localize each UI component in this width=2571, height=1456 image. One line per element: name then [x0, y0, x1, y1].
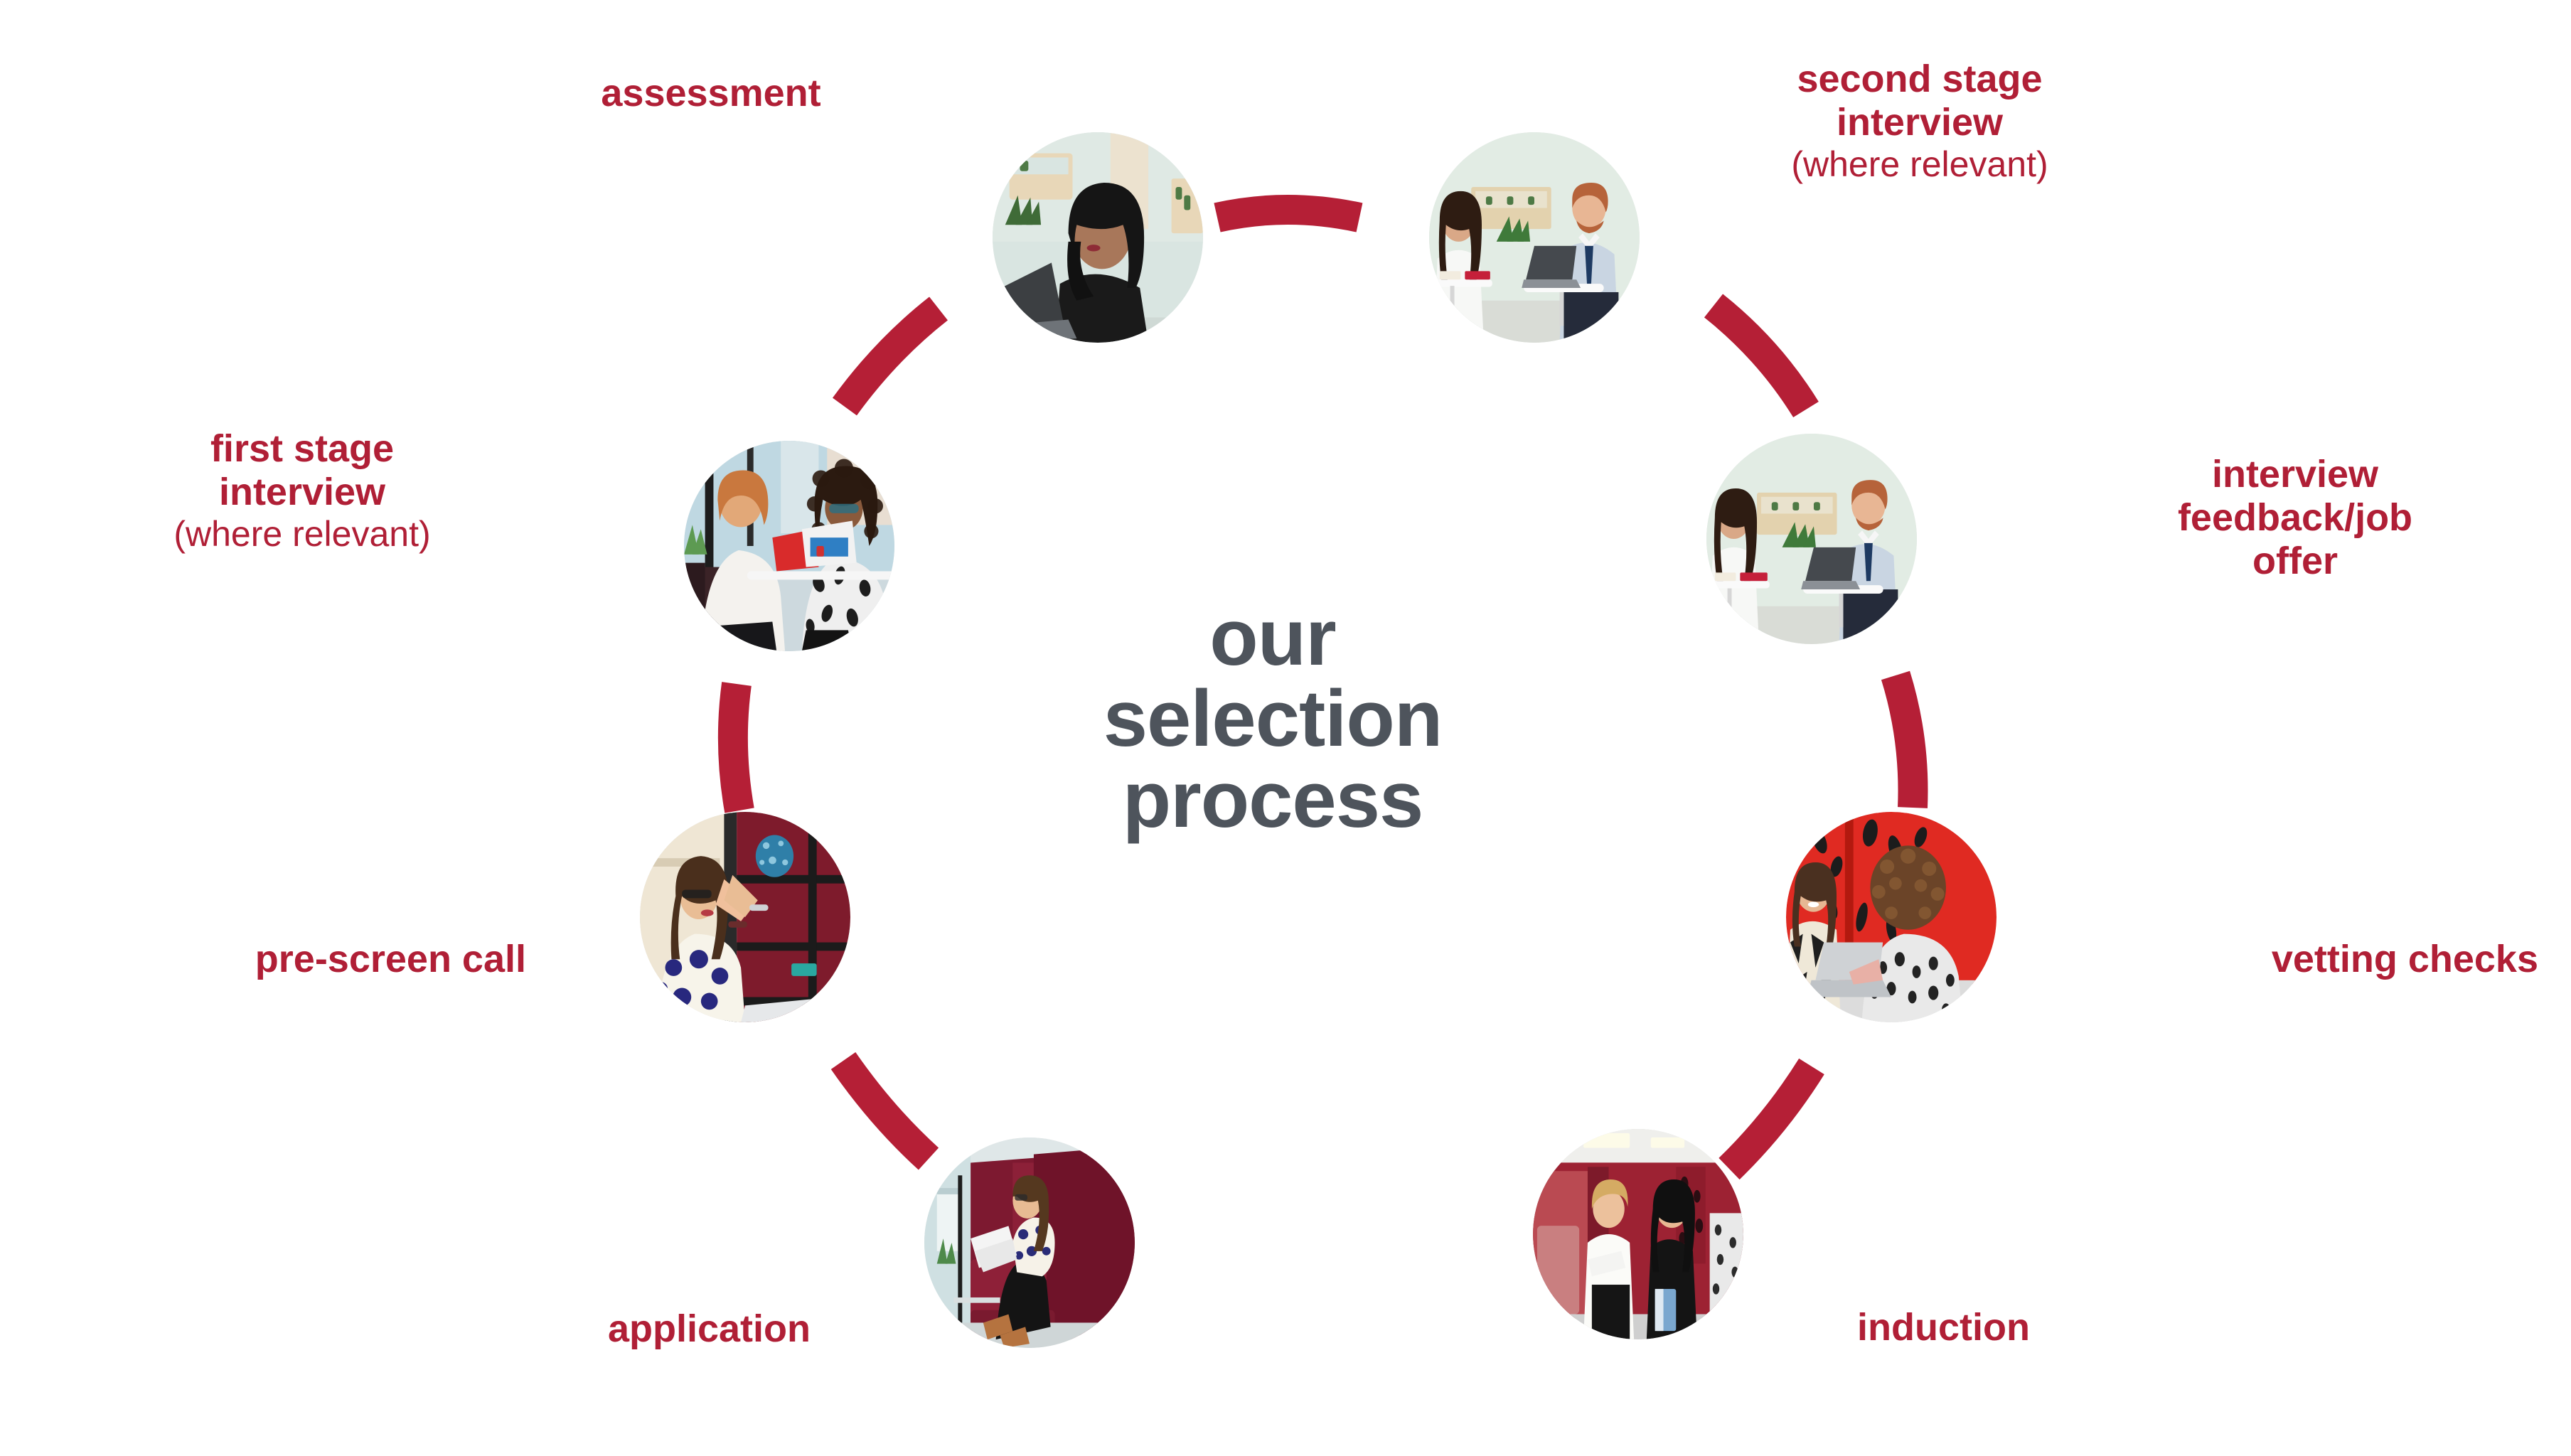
arc-first-stage-to-assessment — [845, 309, 939, 407]
step-sublabel-first-stage-interview: (where relevant) — [21, 514, 583, 555]
step-label-pre-screen-call-text: pre-screen call — [255, 938, 526, 980]
step-circle-second-stage-interview[interactable] — [1429, 132, 1640, 343]
step-circle-assessment[interactable] — [993, 132, 1203, 343]
step-label-interview-feedback-job-offer-text: interview feedback/job offer — [2178, 453, 2412, 582]
step-circle-application[interactable] — [924, 1137, 1135, 1348]
step-label-assessment-text: assessment — [601, 72, 821, 114]
page-title-line-3: process — [939, 759, 1607, 840]
arc-vetting-to-induction — [1729, 1066, 1812, 1169]
step-label-assessment: assessment — [427, 28, 995, 115]
page-title-line-1: our — [939, 597, 1607, 678]
step-circle-first-stage-interview[interactable] — [684, 441, 894, 651]
arc-second-stage-to-feedback — [1714, 306, 1806, 409]
pre-screen-call-photo — [640, 812, 850, 1022]
assessment-photo — [993, 132, 1203, 343]
step-label-vetting-checks: vetting checks — [1962, 894, 2538, 981]
step-label-interview-feedback-job-offer: interview feedback/job offer — [2019, 409, 2571, 583]
step-sublabel-second-stage-interview: (where relevant) — [1621, 144, 2218, 186]
step-label-application: application — [313, 1264, 811, 1351]
interview-feedback-photo — [1706, 434, 1917, 644]
arc-prescreen-to-first-stage — [733, 684, 739, 810]
step-circle-interview-feedback-job-offer[interactable] — [1706, 434, 1917, 644]
step-label-second-stage-interview: second stage interview (where relevant) — [1621, 14, 2218, 229]
step-circle-pre-screen-call[interactable] — [640, 812, 850, 1022]
step-circle-induction[interactable] — [1533, 1129, 1743, 1339]
first-stage-interview-photo — [684, 441, 894, 651]
step-label-first-stage-interview-text: first stage interview — [210, 427, 394, 513]
step-label-application-text: application — [608, 1307, 811, 1350]
step-label-induction-text: induction — [1857, 1306, 2030, 1349]
step-label-second-stage-interview-text: second stage interview — [1797, 58, 2042, 144]
application-photo — [924, 1137, 1135, 1348]
step-label-vetting-checks-text: vetting checks — [2272, 938, 2538, 980]
page-title-line-2: selection — [939, 678, 1607, 759]
step-label-induction: induction — [1857, 1263, 2355, 1349]
induction-photo — [1533, 1129, 1743, 1339]
arc-assessment-to-second-stage — [1217, 210, 1359, 218]
page-title: our selection process — [939, 597, 1607, 841]
step-label-pre-screen-call: pre-screen call — [28, 894, 526, 981]
step-label-first-stage-interview: first stage interview (where relevant) — [21, 384, 583, 599]
arc-application-to-prescreen — [843, 1061, 929, 1159]
arc-feedback-to-vetting — [1896, 675, 1913, 808]
second-stage-interview-photo — [1429, 132, 1640, 343]
selection-process-diagram: our selection process — [0, 0, 2571, 1456]
